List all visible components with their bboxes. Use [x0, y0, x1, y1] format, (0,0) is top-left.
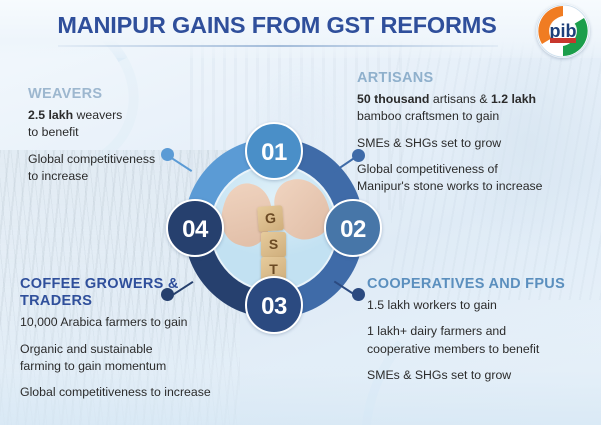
artisans-line-4: Global competitiveness of — [357, 161, 597, 177]
weavers-line-2: to benefit — [28, 124, 208, 140]
pib-logo-icon: pib — [536, 4, 590, 58]
coffee-line-1: 10,000 Arabica farmers to gain — [20, 314, 265, 330]
title-underline — [58, 45, 498, 47]
section-heading-weavers: WEAVERS — [28, 86, 208, 103]
wooden-block-g: G — [257, 205, 284, 232]
cooperatives-line-3: cooperative members to benefit — [367, 341, 601, 357]
cooperatives-line-1: 1.5 lakh workers to gain — [367, 297, 601, 313]
section-heading-coffee: COFFEE GROWERS & TRADERS — [20, 276, 265, 310]
artisans-line-1-bold-a: 50 thousand — [357, 92, 429, 106]
artisans-line-3: SMEs & SHGs set to grow — [357, 135, 597, 151]
section-heading-artisans: ARTISANS — [357, 70, 597, 87]
coffee-line-2: Organic and sustainable — [20, 341, 265, 357]
weavers-line-1-rest: weavers — [73, 108, 122, 122]
header-band: MANIPUR GAINS FROM GST REFORMS — [0, 0, 601, 58]
artisans-line-1: 50 thousand artisans & 1.2 lakh — [357, 91, 597, 107]
artisans-line-2: bamboo craftsmen to gain — [357, 108, 597, 124]
section-heading-cooperatives: COOPERATIVES AND FPUS — [367, 276, 601, 293]
weavers-line-4: to increase — [28, 168, 208, 184]
cooperatives-line-2: 1 lakh+ dairy farmers and — [367, 323, 601, 339]
weavers-line-1-bold: 2.5 lakh — [28, 108, 73, 122]
section-artisans: ARTISANS 50 thousand artisans & 1.2 lakh… — [357, 70, 597, 196]
step-circle-01[interactable]: 01 — [245, 122, 303, 180]
artisans-line-1-bold-b: 1.2 lakh — [491, 92, 536, 106]
artisans-line-1-mid: artisans & — [429, 92, 491, 106]
section-cooperatives: COOPERATIVES AND FPUS 1.5 lakh workers t… — [367, 276, 601, 384]
section-coffee-growers: COFFEE GROWERS & TRADERS 10,000 Arabica … — [20, 276, 265, 402]
step-circle-02[interactable]: 02 — [324, 199, 382, 257]
infographic-poster: MANIPUR GAINS FROM GST REFORMS pib — [0, 0, 601, 425]
coffee-line-4: Global competitiveness to increase — [20, 384, 265, 400]
coffee-heading-line-2: TRADERS — [20, 293, 265, 310]
section-weavers: WEAVERS 2.5 lakh weavers to benefit Glob… — [28, 86, 208, 185]
gst-blocks-photo: G S T — [212, 166, 336, 290]
pib-logo: pib — [536, 4, 590, 58]
coffee-heading-line-1: COFFEE GROWERS & — [20, 276, 265, 293]
cooperatives-line-4: SMEs & SHGs set to grow — [367, 367, 601, 383]
connector-dot-cooperatives — [352, 288, 365, 301]
wooden-block-s: S — [261, 232, 286, 257]
artisans-line-5: Manipur's stone works to increase — [357, 178, 597, 194]
step-circle-04[interactable]: 04 — [166, 199, 224, 257]
weavers-line-1: 2.5 lakh weavers — [28, 107, 208, 123]
page-title: MANIPUR GAINS FROM GST REFORMS — [22, 12, 532, 39]
weavers-line-3: Global competitiveness — [28, 151, 208, 167]
coffee-line-3: farming to gain momentum — [20, 358, 265, 374]
